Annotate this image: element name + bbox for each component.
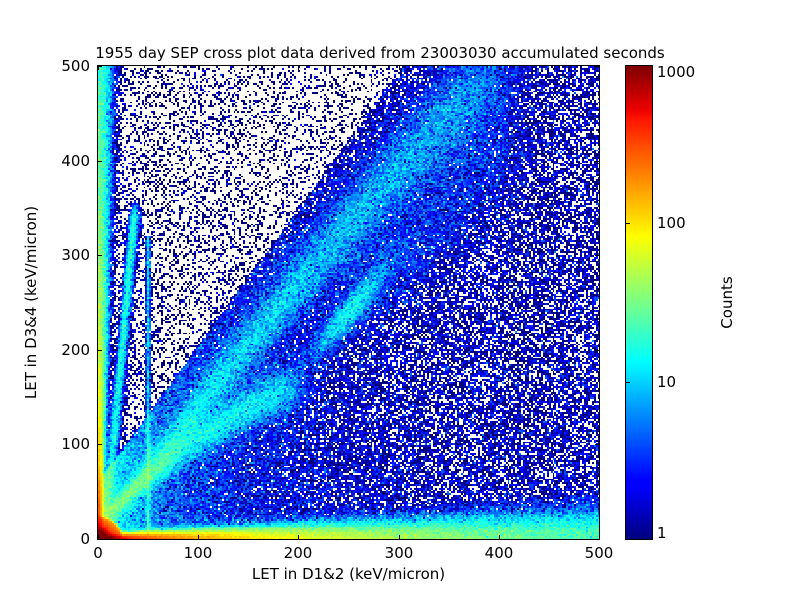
x-tick-mark [298,66,299,70]
x-tick-mark [198,535,199,539]
figure-canvas: 1955 day SEP cross plot data derived fro… [0,0,800,600]
x-axis-label: LET in D1&2 (keV/micron) [97,565,600,583]
x-tick-mark [499,66,500,70]
colorbar-tick-mark [625,382,630,383]
x-tick-mark [499,535,500,539]
y-tick-mark [98,350,102,351]
x-tick-label: 200 [284,544,313,562]
x-tick-label: 500 [585,544,614,562]
x-tick-mark [399,66,400,70]
colorbar-gradient [626,66,652,539]
colorbar-tick-label: 1000 [657,63,695,81]
y-axis-label: LET in D3&4 (keV/micron) [22,206,40,399]
y-tick-label: 400 [30,152,90,170]
plot-axes[interactable] [97,65,600,540]
y-tick-mark [595,161,599,162]
x-tick-mark [198,66,199,70]
y-tick-mark [98,444,102,445]
x-tick-mark [599,535,600,539]
colorbar-tick-mark [625,223,630,224]
x-tick-mark [399,535,400,539]
colorbar-title: Counts [718,276,736,328]
x-tick-label: 400 [485,544,514,562]
y-tick-mark [595,66,599,67]
x-tick-label: 300 [385,544,414,562]
y-tick-mark [595,444,599,445]
colorbar-tick-label: 10 [657,373,676,391]
colorbar-tick-label: 100 [657,214,686,232]
x-tick-mark [298,535,299,539]
x-tick-mark [599,66,600,70]
y-tick-label: 500 [30,57,90,75]
y-tick-mark [98,255,102,256]
plot-title-line-1: 1955 day SEP cross plot data derived fro… [0,44,760,63]
y-tick-mark [98,66,102,67]
x-tick-label: 0 [93,544,103,562]
y-tick-mark [595,255,599,256]
scatter-density-canvas [98,66,599,539]
y-tick-label: 0 [30,530,90,548]
colorbar[interactable] [625,65,653,540]
y-tick-mark [98,539,102,540]
y-tick-mark [595,539,599,540]
colorbar-tick-label: 1 [657,524,667,542]
y-tick-mark [595,350,599,351]
x-tick-label: 100 [184,544,213,562]
y-tick-label: 100 [30,435,90,453]
y-tick-mark [98,161,102,162]
